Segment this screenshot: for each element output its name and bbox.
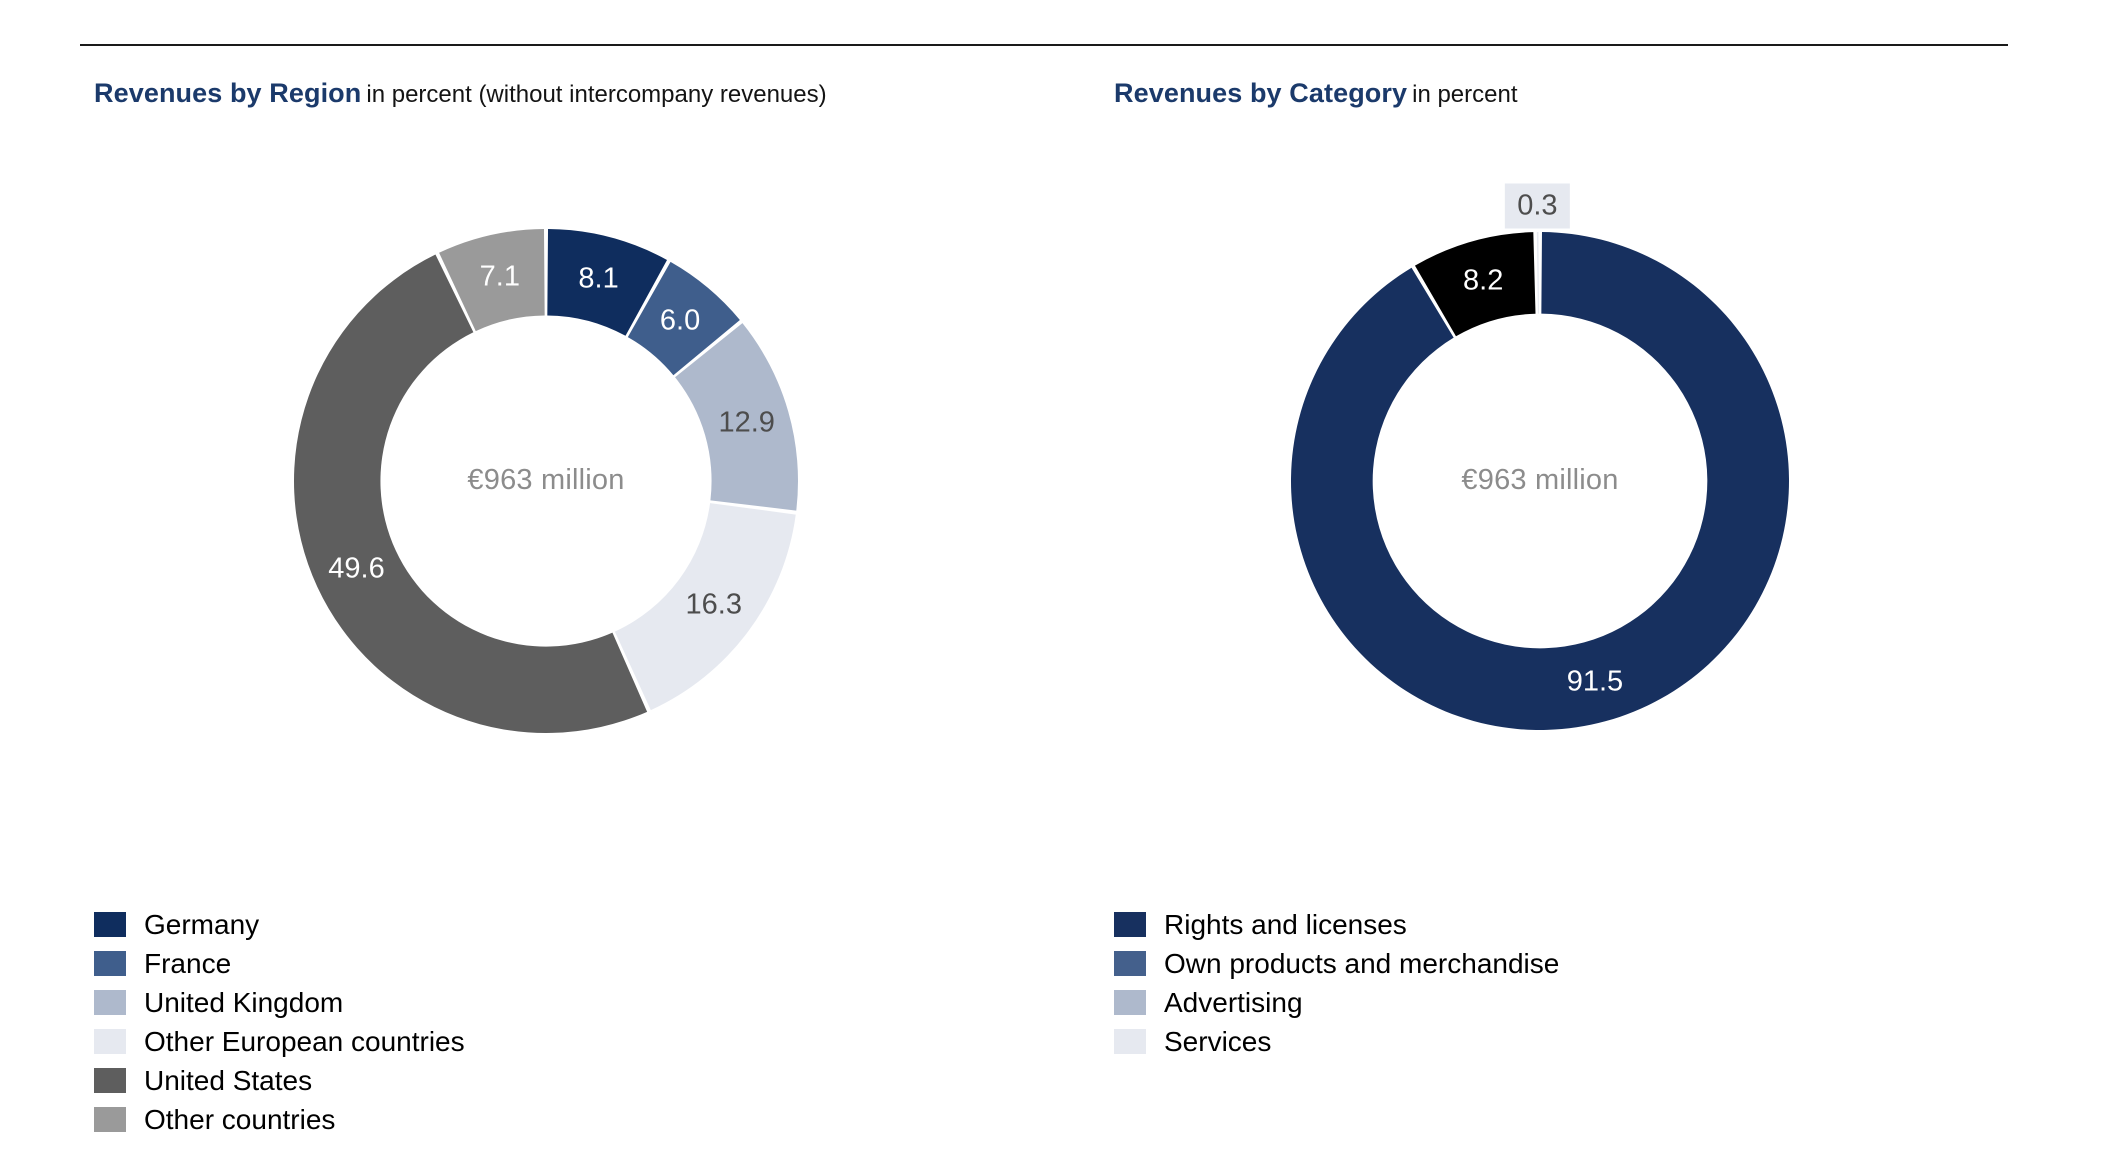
legend-swatch-icon-france [94,951,126,976]
donut-center-total-region: €963 million [293,464,799,497]
legend-swatch-icon-services [1114,1029,1146,1054]
chart-title-sub: in percent [1412,81,1517,108]
legend-swatch-icon-advertising [1114,990,1146,1015]
legend-label-germany: Germany [144,911,259,939]
legend-item-advertising[interactable]: Advertising [1114,983,1559,1022]
chart-panel-revenues-by-category: Revenues by Categoryin percent €963 mill… [1100,0,2114,1170]
legend-swatch-icon-united-kingdom [94,990,126,1015]
legend-region: Germany France United Kingdom Other Euro… [94,905,465,1139]
donut-value-label: 8.1 [578,262,618,295]
donut-value-label: 12.9 [718,407,774,440]
donut-value-label: 16.3 [686,589,742,622]
legend-category: Rights and licenses Own products and mer… [1114,905,1559,1061]
legend-label-other-european-countries: Other European countries [144,1028,465,1056]
legend-item-france[interactable]: France [94,944,465,983]
legend-label-united-states: United States [144,1067,312,1095]
legend-item-germany[interactable]: Germany [94,905,465,944]
donut-chart-revenues-by-region: €963 million 8.16.012.916.349.67.1 [293,228,799,734]
page-title-revenues-by-region: Revenues by Regionin percent (without in… [94,80,827,107]
legend-label-united-kingdom: United Kingdom [144,989,343,1017]
legend-label-france: France [144,950,231,978]
legend-label-services: Services [1164,1028,1271,1056]
legend-item-own-products-and-merchandise[interactable]: Own products and merchandise [1114,944,1559,983]
legend-swatch-icon-own-products-and-merchandise [1114,951,1146,976]
page-title-revenues-by-category: Revenues by Categoryin percent [1114,80,1518,107]
donut-slice[interactable] [1537,232,1539,314]
legend-swatch-icon-other-countries [94,1107,126,1132]
chart-title-sub: in percent (without intercompany revenue… [366,81,826,108]
donut-center-total-category: €963 million [1290,464,1790,497]
donut-value-label: 7.1 [480,261,520,294]
legend-label-own-products-and-merchandise: Own products and merchandise [1164,950,1559,978]
legend-item-united-kingdom[interactable]: United Kingdom [94,983,465,1022]
donut-value-label: 49.6 [328,552,384,585]
chart-title-main: Revenues by Category [1114,78,1407,108]
legend-swatch-icon-united-states [94,1068,126,1093]
legend-swatch-icon-rights-and-licenses [1114,912,1146,937]
legend-item-other-european-countries[interactable]: Other European countries [94,1022,465,1061]
donut-chart-revenues-by-category: €963 million 91.58.20.3 [1290,231,1790,731]
chart-title-main: Revenues by Region [94,78,361,108]
donut-value-label: 91.5 [1567,665,1623,698]
legend-item-united-states[interactable]: United States [94,1061,465,1100]
donut-value-label: 0.3 [1505,184,1569,229]
legend-label-advertising: Advertising [1164,989,1303,1017]
legend-item-rights-and-licenses[interactable]: Rights and licenses [1114,905,1559,944]
legend-swatch-icon-other-european-countries [94,1029,126,1054]
legend-label-rights-and-licenses: Rights and licenses [1164,911,1407,939]
legend-label-other-countries: Other countries [144,1106,335,1134]
chart-panel-revenues-by-region: Revenues by Regionin percent (without in… [0,0,1100,1170]
legend-item-services[interactable]: Services [1114,1022,1559,1061]
legend-swatch-icon-germany [94,912,126,937]
legend-item-other-countries[interactable]: Other countries [94,1100,465,1139]
donut-value-label: 8.2 [1463,264,1503,297]
donut-value-label: 6.0 [660,304,700,337]
